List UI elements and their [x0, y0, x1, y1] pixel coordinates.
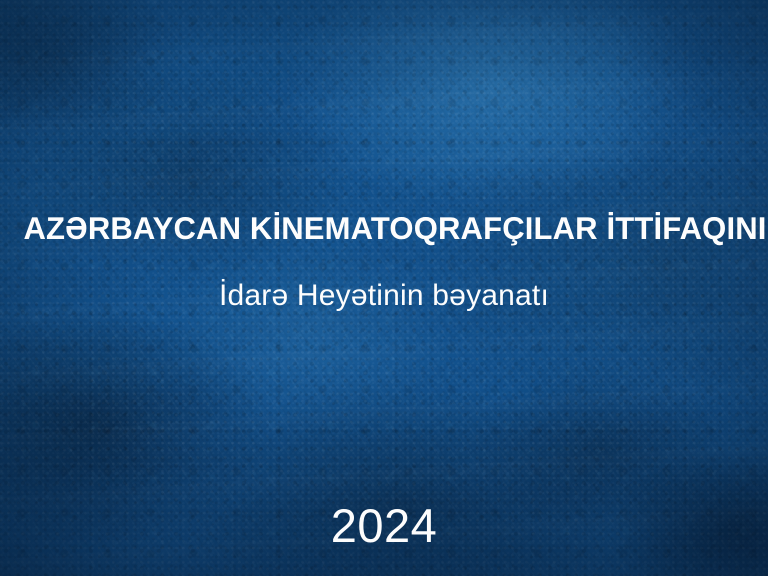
poster-subheadline: İdarə Heyətinin bəyanatı	[18, 276, 750, 316]
title-block: AZƏRBAYCAN KİNEMATOQRAFÇILAR İTTİFAQININ…	[0, 206, 768, 316]
poster-headline: AZƏRBAYCAN KİNEMATOQRAFÇILAR İTTİFAQININ	[23, 206, 744, 250]
poster-canvas: AZƏRBAYCAN KİNEMATOQRAFÇILAR İTTİFAQININ…	[0, 0, 768, 576]
poster-year: 2024	[0, 498, 768, 554]
poster-content: AZƏRBAYCAN KİNEMATOQRAFÇILAR İTTİFAQININ…	[0, 0, 768, 576]
